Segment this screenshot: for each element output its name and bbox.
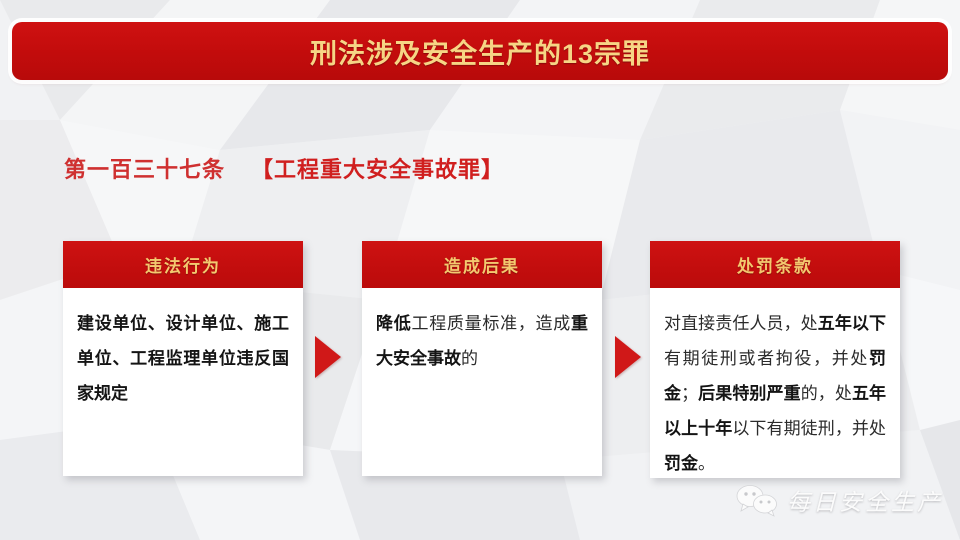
card-consequence: 造成后果 降低工程质量标准，造成重大安全事故的 <box>362 241 602 476</box>
page-title: 刑法涉及安全生产的13宗罪 <box>310 32 650 71</box>
card-body-consequence: 降低工程质量标准，造成重大安全事故的 <box>362 288 602 476</box>
wechat-icon <box>735 483 779 517</box>
slide-canvas: 刑法涉及安全生产的13宗罪 第一百三十七条【工程重大安全事故罪】 违法行为 建设… <box>0 0 960 540</box>
arrow-right-icon <box>615 336 641 378</box>
card-header-label: 违法行为 <box>145 252 221 277</box>
card-header-label: 造成后果 <box>444 252 520 277</box>
slide-title-bar: 刑法涉及安全生产的13宗罪 <box>12 22 948 80</box>
watermark-text: 每日安全生产 <box>787 483 943 517</box>
card-header-illegal-act: 违法行为 <box>63 241 303 288</box>
card-body-penalty: 对直接责任人员，处五年以下有期徒刑或者拘役，并处罚金；后果特别严重的，处五年以上… <box>650 288 900 491</box>
card-penalty: 处罚条款 对直接责任人员，处五年以下有期徒刑或者拘役，并处罚金；后果特别严重的，… <box>650 241 900 478</box>
watermark: 每日安全生产 <box>735 483 943 517</box>
article-subtitle: 第一百三十七条【工程重大安全事故罪】 <box>64 152 504 184</box>
crime-name: 【工程重大安全事故罪】 <box>251 157 504 182</box>
card-header-consequence: 造成后果 <box>362 241 602 288</box>
arrow-right-icon <box>315 336 341 378</box>
card-illegal-act: 违法行为 建设单位、设计单位、施工单位、工程监理单位违反国家规定 <box>63 241 303 476</box>
card-header-label: 处罚条款 <box>737 252 813 277</box>
card-body-illegal-act: 建设单位、设计单位、施工单位、工程监理单位违反国家规定 <box>63 288 303 476</box>
article-number: 第一百三十七条 <box>64 157 225 182</box>
card-header-penalty: 处罚条款 <box>650 241 900 288</box>
